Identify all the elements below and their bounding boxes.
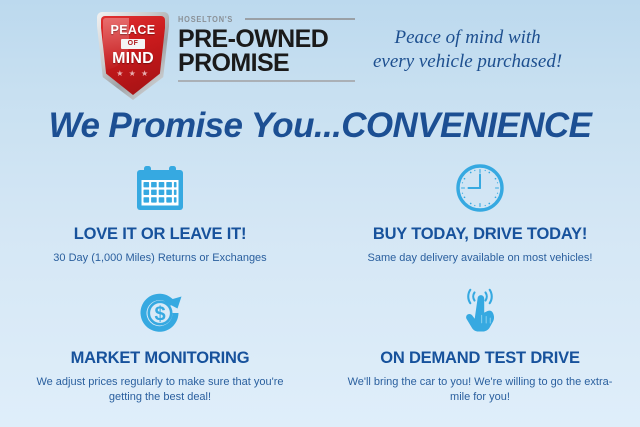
feature-title: ON DEMAND TEST DRIVE	[380, 349, 580, 368]
shield-line-of: OF	[121, 39, 146, 49]
shield-line-peace: PEACE	[110, 24, 155, 37]
brand-logo-block: PEACE OF MIND ★ ★ ★ HOSELTON'S PRE-OWNED…	[97, 10, 355, 100]
dollar-refresh-icon: $	[135, 284, 185, 340]
wordmark-underline	[178, 80, 355, 82]
promise-poster: PEACE OF MIND ★ ★ ★ HOSELTON'S PRE-OWNED…	[0, 0, 640, 427]
header-tagline: Peace of mind with every vehicle purchas…	[373, 26, 562, 74]
dealer-name: HOSELTON'S	[178, 15, 233, 24]
feature-subtitle: We adjust prices regularly to make sure …	[20, 375, 300, 405]
feature-subtitle: 30 Day (1,000 Miles) Returns or Exchange…	[53, 251, 266, 266]
peace-of-mind-shield-icon: PEACE OF MIND ★ ★ ★	[97, 12, 169, 100]
shield-stars-icon: ★ ★ ★	[116, 70, 149, 78]
feature-card-love-it-or-leave-it: LOVE IT OR LEAVE IT! 30 Day (1,000 Miles…	[0, 160, 320, 284]
feature-grid: LOVE IT OR LEAVE IT! 30 Day (1,000 Miles…	[0, 160, 640, 408]
clock-icon	[455, 160, 505, 216]
feature-card-buy-today-drive-today: BUY TODAY, DRIVE TODAY! Same day deliver…	[320, 160, 640, 284]
feature-title: BUY TODAY, DRIVE TODAY!	[373, 225, 587, 244]
tap-hand-icon	[455, 284, 505, 340]
calendar-icon	[135, 160, 185, 216]
eyebrow-rule	[245, 18, 355, 20]
feature-card-on-demand-test-drive: ON DEMAND TEST DRIVE We'll bring the car…	[320, 284, 640, 408]
shield-text-group: PEACE OF MIND ★ ★ ★	[97, 12, 169, 100]
feature-title: MARKET MONITORING	[71, 349, 250, 368]
shield-line-mind: MIND	[112, 51, 154, 67]
tagline-line-1: Peace of mind with	[373, 26, 562, 50]
poster-header: PEACE OF MIND ★ ★ ★ HOSELTON'S PRE-OWNED…	[0, 10, 640, 106]
feature-subtitle: Same day delivery available on most vehi…	[367, 251, 592, 266]
feature-subtitle: We'll bring the car to you! We're willin…	[340, 375, 620, 405]
feature-card-market-monitoring: $ MARKET MONITORING We adjust prices reg…	[0, 284, 320, 408]
wordmark-eyebrow-row: HOSELTON'S	[178, 13, 355, 25]
wordmark-line-2: PROMISE	[178, 51, 355, 75]
svg-text:$: $	[154, 304, 165, 326]
page-title: We Promise You...CONVENIENCE	[0, 106, 640, 146]
tagline-line-2: every vehicle purchased!	[373, 50, 562, 74]
wordmark-line-1: PRE-OWNED	[178, 27, 355, 51]
feature-title: LOVE IT OR LEAVE IT!	[74, 225, 247, 244]
brand-wordmark: HOSELTON'S PRE-OWNED PROMISE	[178, 10, 355, 82]
